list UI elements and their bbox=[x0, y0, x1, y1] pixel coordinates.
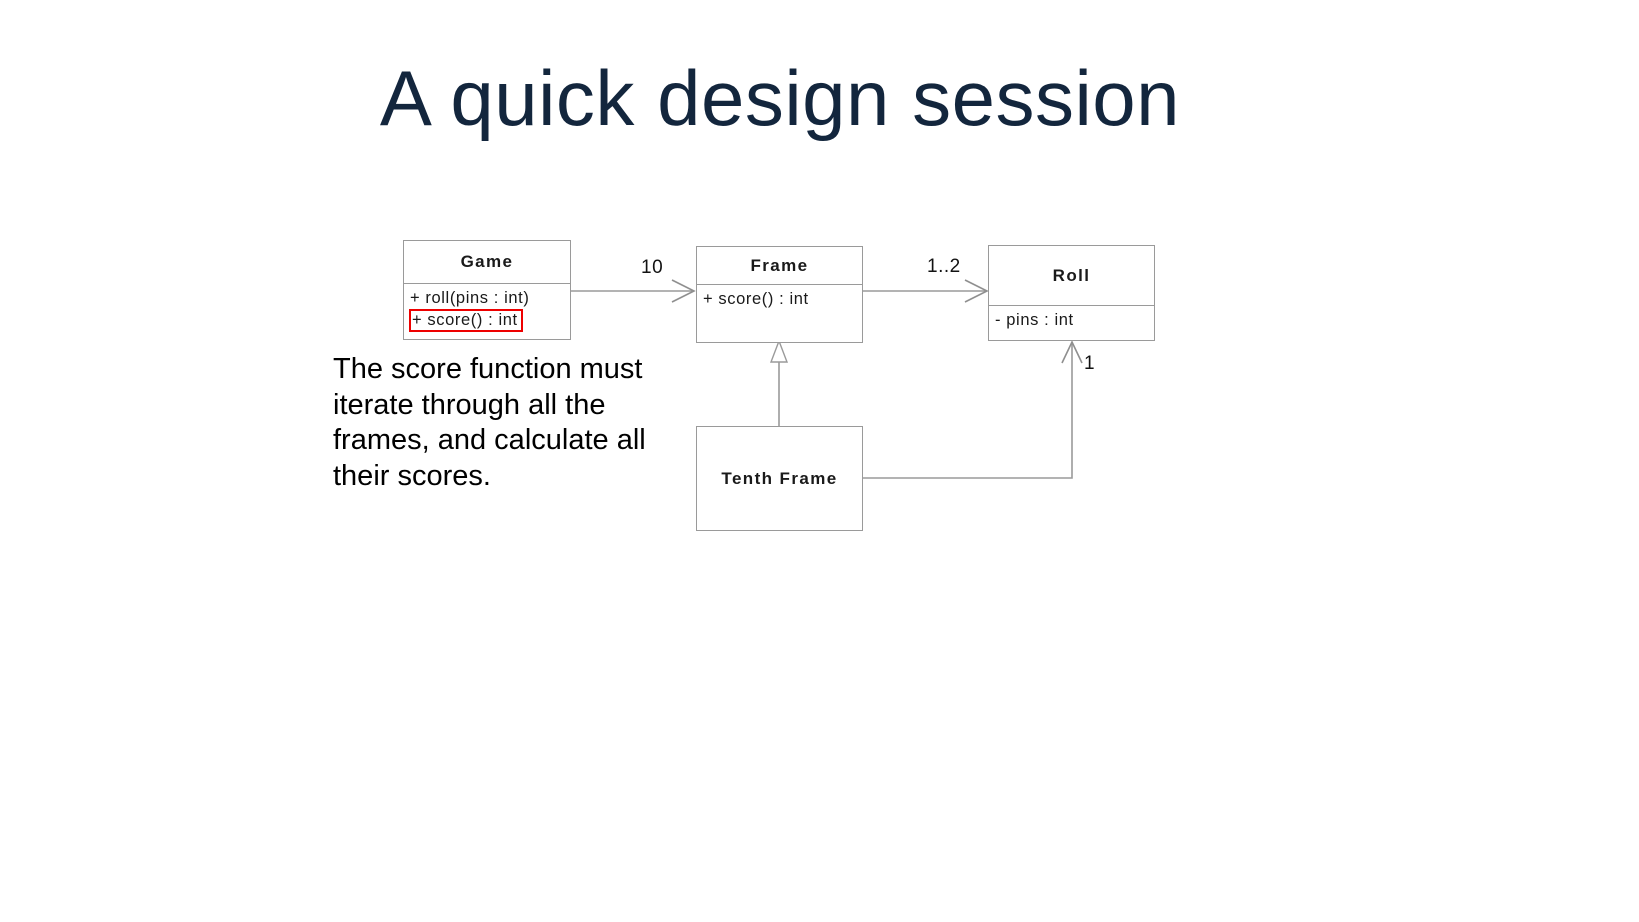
uml-member-roll-pins[interactable]: - pins : int bbox=[995, 310, 1074, 331]
page-title: A quick design session bbox=[0, 58, 1560, 140]
uml-class-frame-members: + score() : int bbox=[697, 285, 862, 343]
uml-class-game[interactable]: Game + roll(pins : int) + score() : int bbox=[403, 240, 571, 340]
explanatory-note: The score function must iterate through … bbox=[333, 352, 663, 494]
connector-game-frame bbox=[571, 280, 694, 302]
uml-class-game-name: Game bbox=[404, 241, 570, 283]
connector-frame-roll bbox=[863, 280, 987, 302]
uml-class-roll[interactable]: Roll - pins : int bbox=[988, 245, 1155, 341]
multiplicity-tenthframe-roll: 1 bbox=[1084, 353, 1095, 375]
uml-member-game-score[interactable]: + score() : int bbox=[409, 309, 523, 332]
multiplicity-frame-roll: 1..2 bbox=[927, 256, 961, 278]
uml-member-frame-score[interactable]: + score() : int bbox=[703, 289, 809, 310]
uml-class-roll-members: - pins : int bbox=[989, 306, 1154, 342]
uml-class-frame[interactable]: Frame + score() : int bbox=[696, 246, 863, 343]
uml-class-roll-name: Roll bbox=[989, 246, 1154, 305]
connector-tenthframe-roll bbox=[863, 342, 1082, 478]
uml-class-game-members: + roll(pins : int) + score() : int bbox=[404, 284, 570, 340]
uml-member-game-roll[interactable]: + roll(pins : int) bbox=[410, 288, 529, 309]
slide-canvas: A quick design session Game + roll(pins bbox=[0, 0, 1639, 922]
uml-class-tenth-frame[interactable]: Tenth Frame bbox=[696, 426, 863, 531]
uml-class-frame-name: Frame bbox=[697, 247, 862, 284]
uml-class-tenth-frame-name: Tenth Frame bbox=[697, 427, 862, 530]
multiplicity-game-frame: 10 bbox=[641, 257, 663, 279]
